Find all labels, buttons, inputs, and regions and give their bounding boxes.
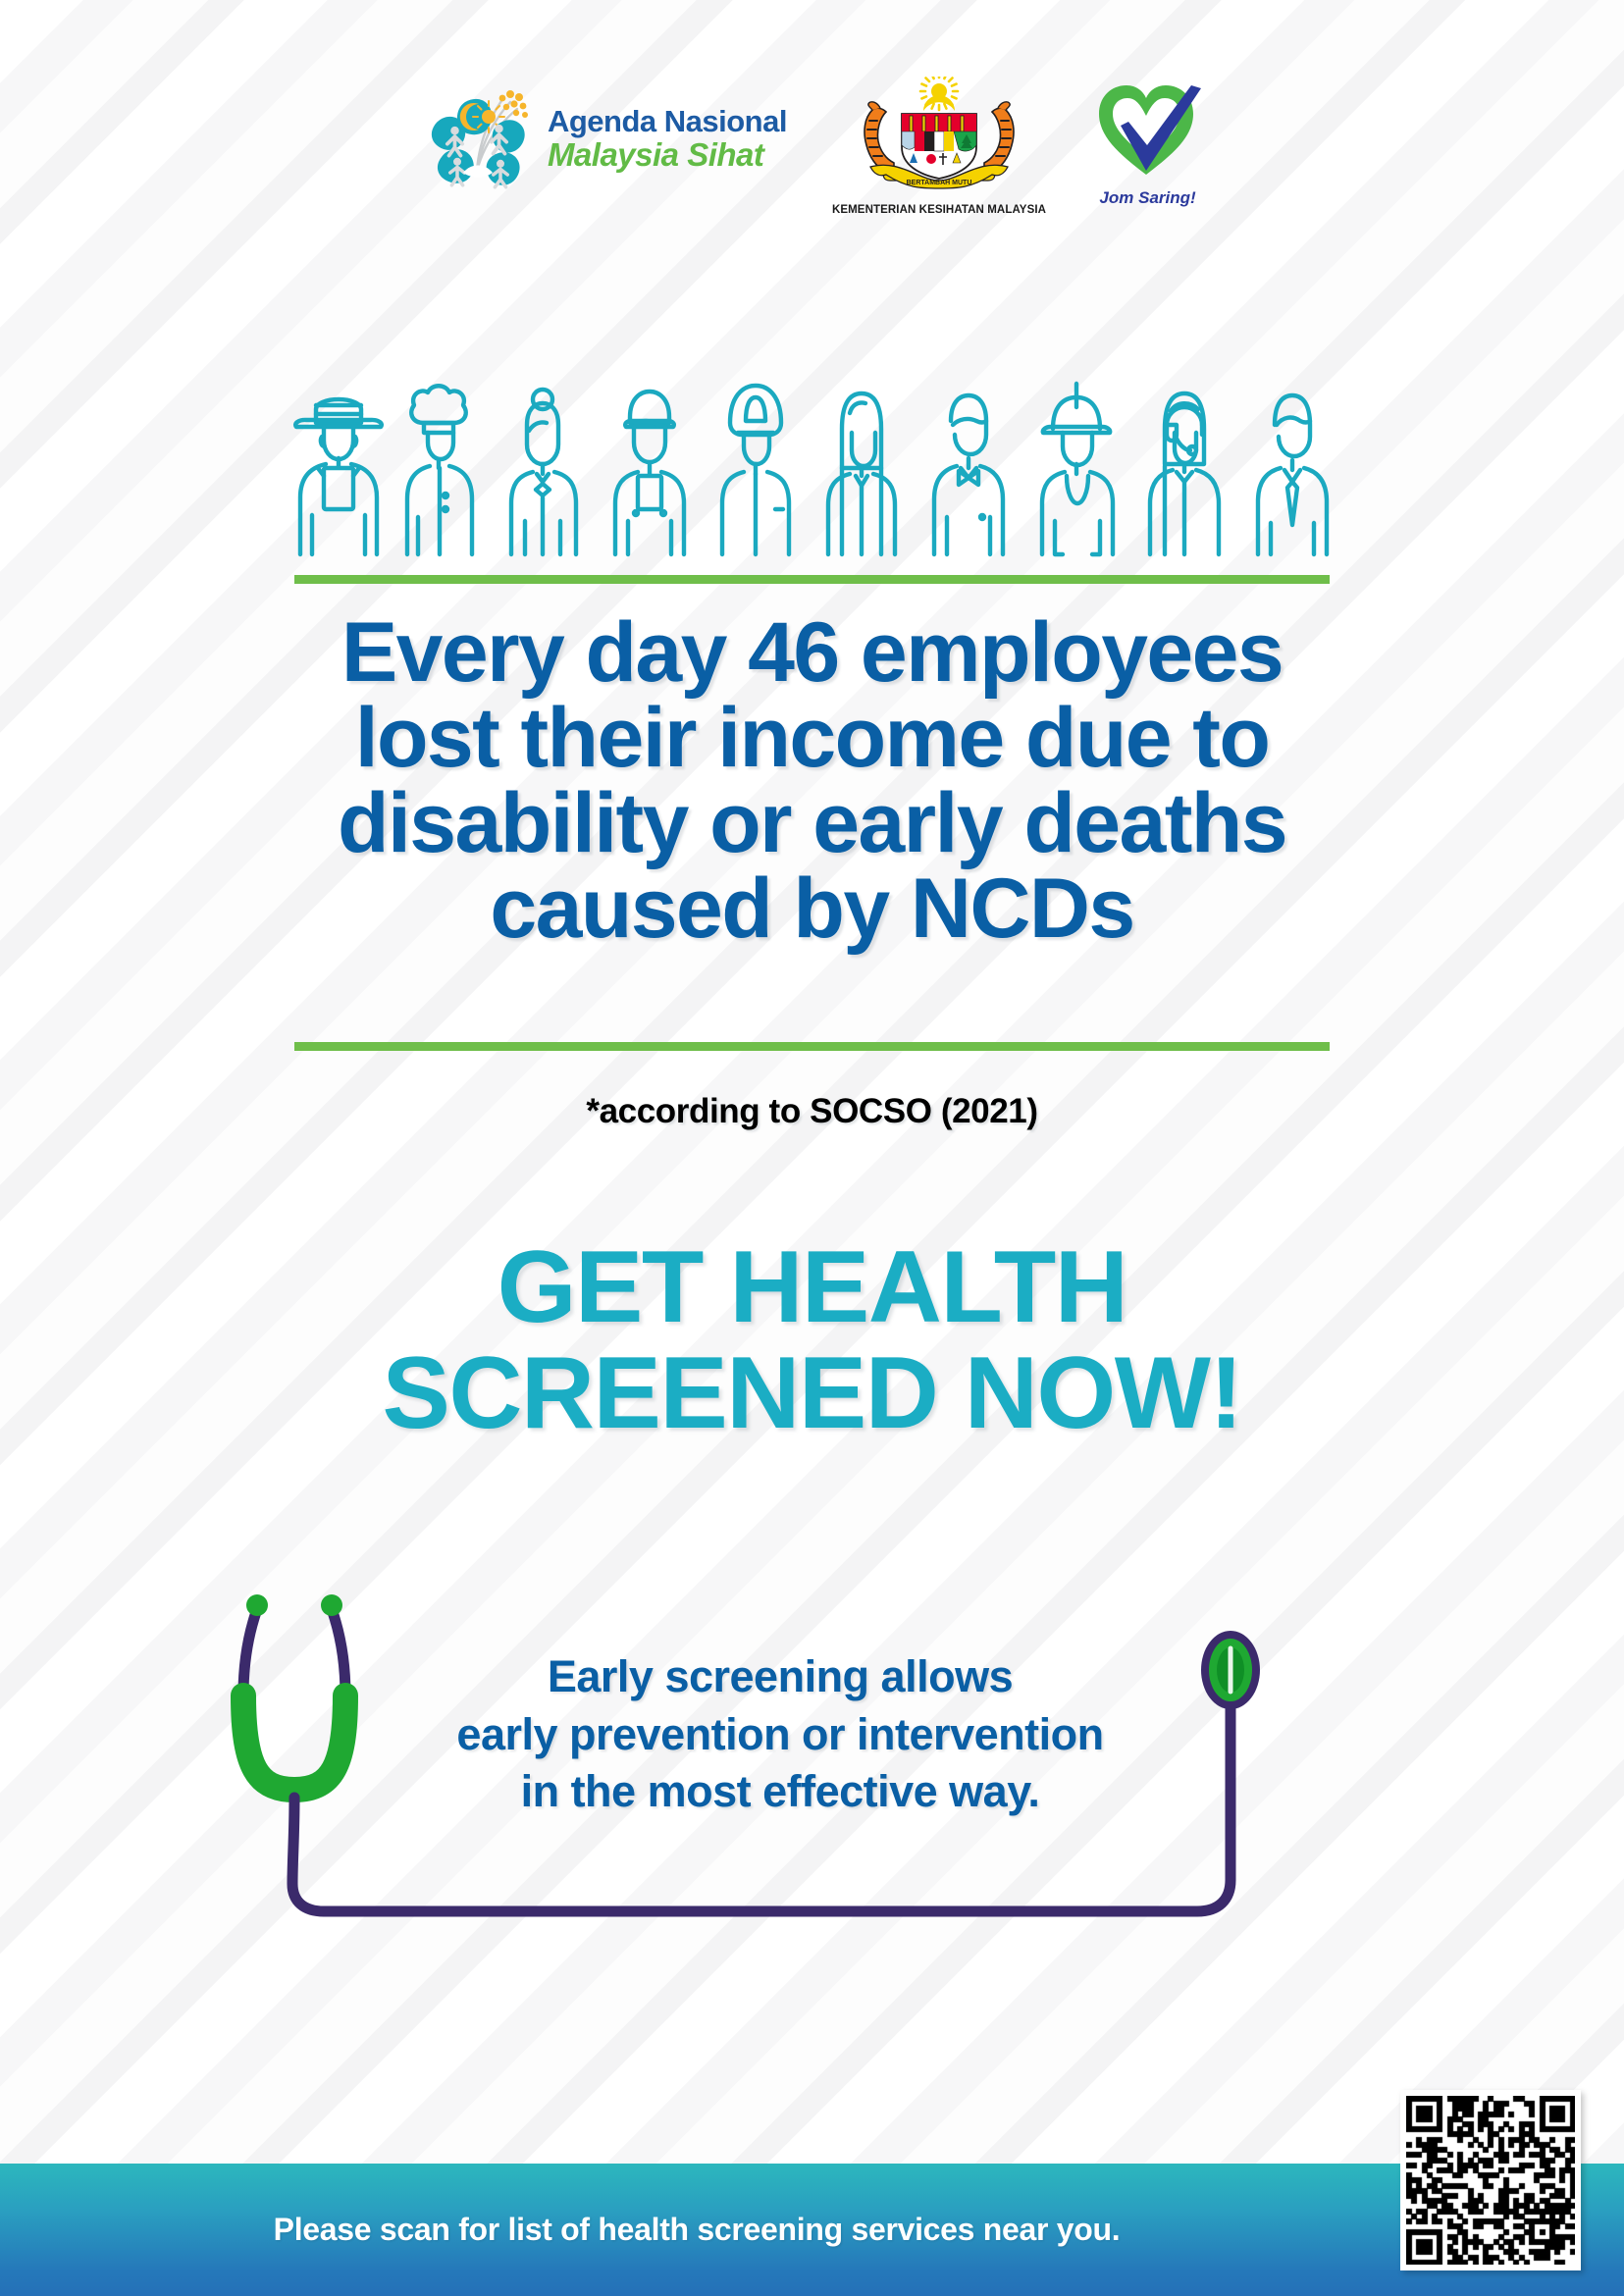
message-line-2: early prevention or intervention — [324, 1706, 1236, 1764]
divider-top — [294, 575, 1330, 584]
kementerian-caption: KEMENTERIAN KESIHATAN MALAYSIA — [832, 204, 1046, 216]
qr-code-image — [1406, 2096, 1575, 2265]
headline: Every day 46 employees lost their income… — [157, 610, 1467, 951]
message-text: Early screening allows early prevention … — [324, 1648, 1236, 1821]
message-line-3: in the most effective way. — [324, 1763, 1236, 1821]
hibiscus-flower-people-icon — [420, 77, 538, 199]
svg-text:BERTAMBAH MUTU: BERTAMBAH MUTU — [907, 180, 972, 186]
logo-row: Agenda Nasional Malaysia Sihat — [0, 77, 1624, 224]
headline-line-4: caused by NCDs — [157, 866, 1467, 952]
agenda-nasional-line1: Agenda Nasional — [548, 106, 787, 136]
logo-jom-saring: Jom Saring! — [1091, 77, 1204, 208]
poster-canvas: Agenda Nasional Malaysia Sihat — [0, 0, 1624, 2296]
divider-bottom — [294, 1042, 1330, 1051]
heart-checkmark-icon — [1091, 77, 1204, 187]
agenda-nasional-line2: Malaysia Sihat — [548, 138, 787, 171]
cta-line-1: GET HEALTH — [0, 1234, 1624, 1340]
jom-saring-caption: Jom Saring! — [1099, 188, 1195, 208]
headline-line-1: Every day 46 employees — [157, 610, 1467, 696]
qr-code-health-screening-services[interactable] — [1400, 2090, 1581, 2270]
cta-line-2: SCREENED NOW! — [0, 1340, 1624, 1446]
call-to-action: GET HEALTH SCREENED NOW! — [0, 1234, 1624, 1446]
message-line-1: Early screening allows — [324, 1648, 1236, 1706]
headline-line-2: lost their income due to — [157, 696, 1467, 781]
logo-agenda-nasional-malaysia-sihat: Agenda Nasional Malaysia Sihat — [420, 77, 787, 199]
logo-kementerian-kesihatan-malaysia: BERTAMBAH MUTU KEMENTERIAN KESIHATAN MAL… — [832, 77, 1046, 216]
headline-line-3: disability or early deaths — [157, 781, 1467, 866]
footer-bar: Please scan for list of health screening… — [0, 2164, 1624, 2296]
source-note: *according to SOCSO (2021) — [0, 1092, 1624, 1131]
workers-row-icon — [283, 378, 1347, 569]
agenda-nasional-wordmark: Agenda Nasional Malaysia Sihat — [548, 106, 787, 171]
malaysia-coat-of-arms-icon: BERTAMBAH MUTU — [841, 77, 1037, 201]
footer-text: Please scan for list of health screening… — [0, 2164, 1393, 2296]
